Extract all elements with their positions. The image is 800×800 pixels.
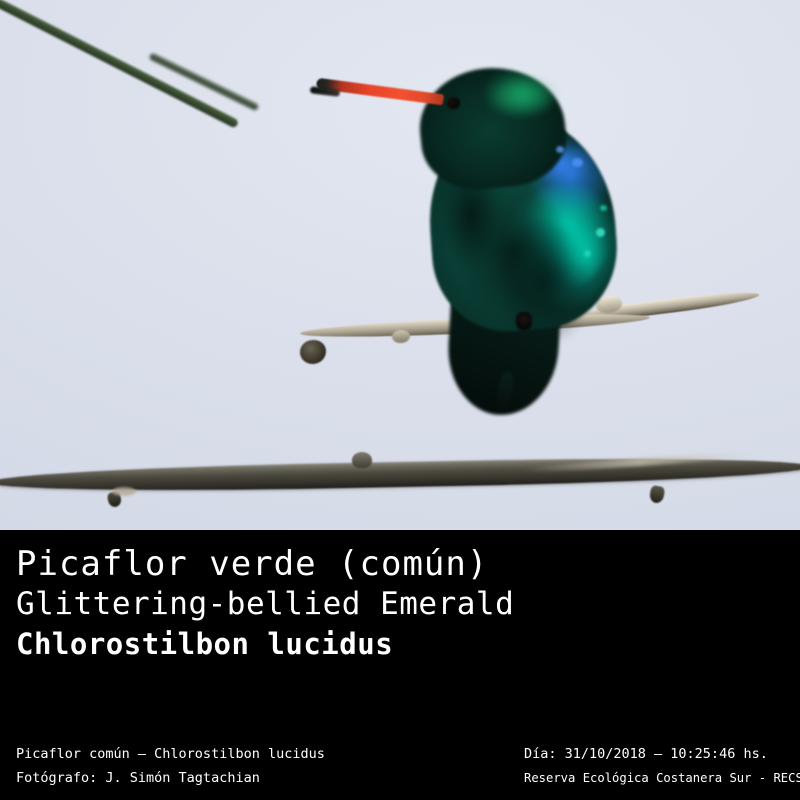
footer-right-column: Día: 31/10/2018 – 10:25:46 hs. Reserva E… [524,742,800,790]
species-name-english: Glittering-bellied Emerald [16,584,602,624]
bird-speck [596,228,605,237]
species-name-group: Picaflor verde (común) Glittering-bellie… [16,544,602,664]
bird-speck [572,158,583,167]
footer-photographer-line: Fotógrafo: J. Simón Tagtachian [16,766,325,790]
bird-eye [447,97,460,109]
footer-species-line: Picaflor común – Chlorostilbon lucidus [16,742,325,766]
bird-speck [584,250,591,257]
bird-crown-sheen [470,70,566,128]
caption-footer: Picaflor común – Chlorostilbon lucidus F… [0,735,800,800]
bird-speck [600,205,607,211]
hummingbird [0,0,800,530]
footer-left-column: Picaflor común – Chlorostilbon lucidus F… [16,742,325,790]
bird-speck [556,146,564,153]
species-name-spanish: Picaflor verde (común) [16,544,602,584]
footer-location-line: Reserva Ecológica Costanera Sur - RECS [524,766,800,790]
photo-caption-card: Picaflor verde (común) Glittering-bellie… [0,0,800,800]
bird-photograph [0,0,800,530]
bird-foot [516,312,532,330]
footer-datetime-line: Día: 31/10/2018 – 10:25:46 hs. [524,742,800,766]
species-name-scientific: Chlorostilbon lucidus [16,624,602,664]
